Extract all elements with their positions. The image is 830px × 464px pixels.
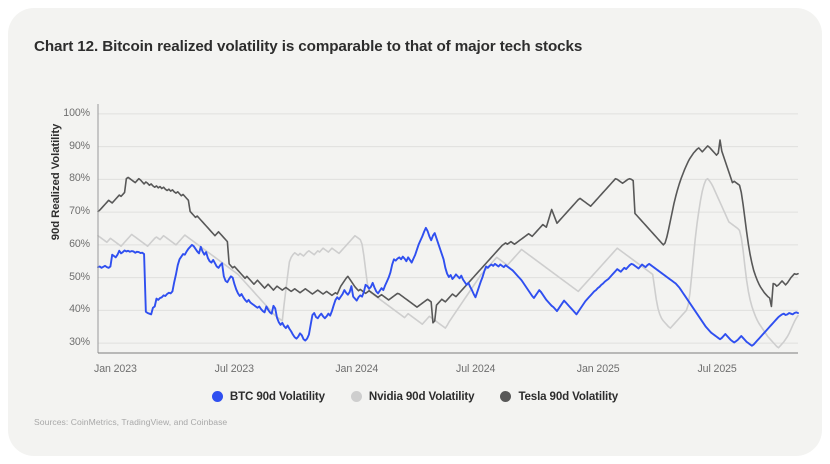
legend-item-label: Nvidia 90d Volatility [369, 390, 475, 403]
legend-color-dot-icon [212, 391, 223, 402]
y-axis-tick-label: 80% [44, 172, 90, 184]
legend-item[interactable]: BTC 90d Volatility [212, 390, 325, 403]
x-axis-tick-label: Jan 2023 [94, 363, 137, 375]
x-axis-tick-label: Jan 2024 [335, 363, 378, 375]
x-axis-tick-label: Jul 2023 [215, 363, 254, 375]
chart-card: Chart 12. Bitcoin realized volatility is… [8, 8, 822, 456]
series-line-tesla [98, 140, 798, 323]
chart-legend: BTC 90d VolatilityNvidia 90d VolatilityT… [8, 390, 822, 403]
legend-color-dot-icon [500, 391, 511, 402]
legend-color-dot-icon [351, 391, 362, 402]
y-axis-tick-label: 40% [44, 303, 90, 315]
sources-note: Sources: CoinMetrics, TradingView, and C… [34, 417, 227, 427]
series-line-nvidia [98, 179, 798, 348]
chart-plot-area: 90d Realized Volatility 30%40%50%60%70%8… [8, 8, 822, 456]
y-axis-tick-label: 90% [44, 140, 90, 152]
y-axis-tick-label: 30% [44, 336, 90, 348]
x-axis-tick-label: Jul 2024 [456, 363, 495, 375]
legend-item[interactable]: Tesla 90d Volatility [500, 390, 618, 403]
y-axis-tick-label: 60% [44, 238, 90, 250]
series-line-btc [98, 228, 798, 346]
y-axis-tick-label: 100% [44, 107, 90, 119]
y-axis-tick-label: 50% [44, 271, 90, 283]
legend-item-label: Tesla 90d Volatility [518, 390, 618, 403]
x-axis-tick-label: Jul 2025 [697, 363, 736, 375]
series-lines [98, 140, 798, 348]
line-chart-svg [8, 8, 822, 456]
legend-item[interactable]: Nvidia 90d Volatility [351, 390, 475, 403]
x-axis-tick-label: Jan 2025 [577, 363, 620, 375]
y-axis-tick-label: 70% [44, 205, 90, 217]
legend-item-label: BTC 90d Volatility [230, 390, 325, 403]
